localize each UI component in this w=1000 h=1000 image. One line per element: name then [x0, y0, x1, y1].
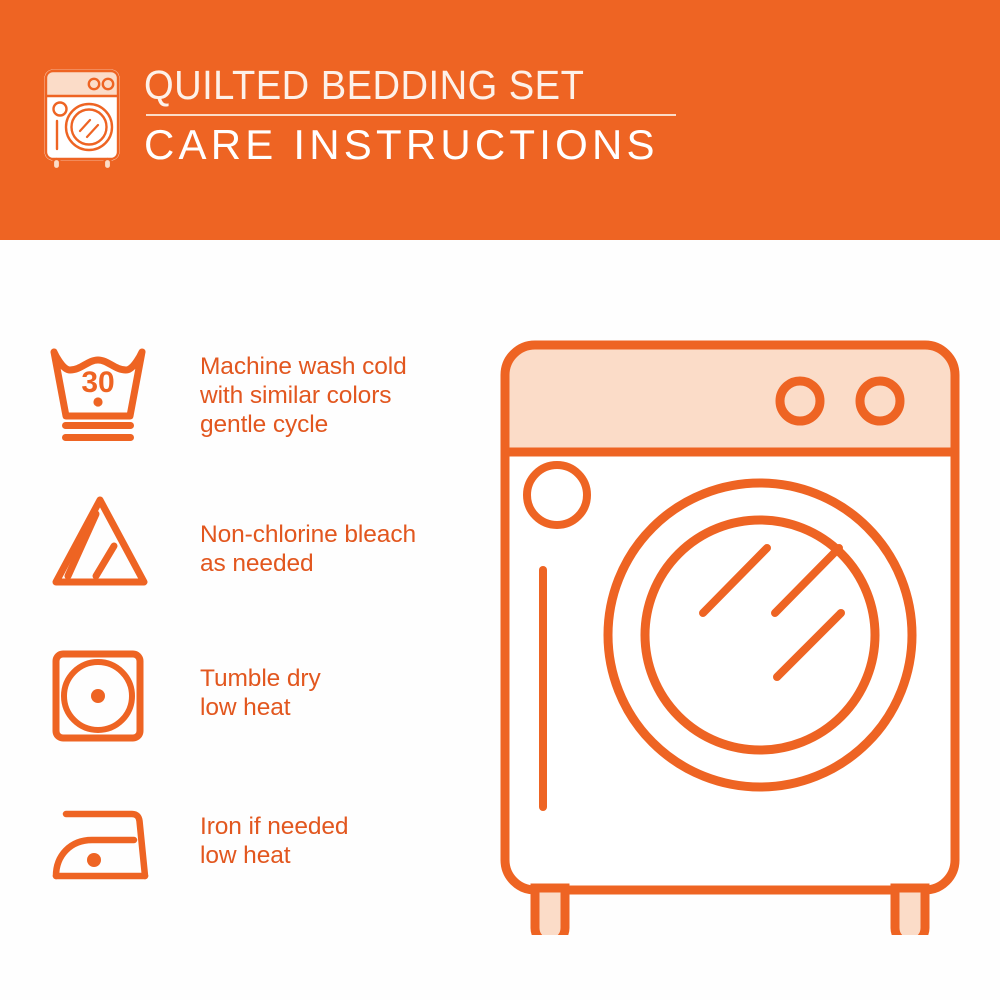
care-instructions-page: QUILTED BEDDING SET CARE INSTRUCTIONS 30…	[0, 0, 1000, 1000]
tumble-dry-low-heat-icon	[48, 640, 160, 746]
page-subtitle: CARE INSTRUCTIONS	[144, 122, 676, 168]
care-icon-wrap	[48, 790, 168, 896]
iron-low-heat-icon	[48, 790, 160, 896]
washing-machine-illustration	[495, 335, 965, 935]
wash-temperature-label: 30	[81, 366, 114, 399]
care-icon-wrap: 30	[48, 340, 168, 446]
title-divider	[146, 114, 676, 116]
care-text-bleach: Non-chlorine bleach as needed	[200, 490, 416, 578]
care-instruction-list: 30 Machine wash cold with similar colors…	[48, 340, 468, 940]
care-text-wash: Machine wash cold with similar colors ge…	[200, 340, 407, 439]
wash-tub-30-gentle-icon: 30	[48, 340, 160, 446]
non-chlorine-bleach-triangle-icon	[48, 490, 160, 596]
care-row-wash: 30 Machine wash cold with similar colors…	[48, 340, 468, 490]
header-titles: QUILTED BEDDING SET CARE INSTRUCTIONS	[144, 63, 676, 168]
page-title: QUILTED BEDDING SET	[144, 63, 639, 107]
machine-leg-left	[535, 888, 565, 935]
care-row-tumble-dry: Tumble dry low heat	[48, 640, 468, 790]
care-text-iron: Iron if needed low heat	[200, 790, 348, 870]
care-row-iron: Iron if needed low heat	[48, 790, 468, 940]
washing-machine-icon	[42, 67, 124, 173]
machine-knob-1[interactable]	[780, 381, 820, 421]
care-icon-wrap	[48, 640, 168, 746]
care-row-bleach: Non-chlorine bleach as needed	[48, 490, 468, 640]
care-text-tumble-dry: Tumble dry low heat	[200, 640, 321, 722]
header-content: QUILTED BEDDING SET CARE INSTRUCTIONS	[42, 63, 676, 173]
machine-leg-right	[895, 888, 925, 935]
machine-knob-2[interactable]	[860, 381, 900, 421]
header-banner: QUILTED BEDDING SET CARE INSTRUCTIONS	[0, 0, 1000, 240]
care-icon-wrap	[48, 490, 168, 596]
